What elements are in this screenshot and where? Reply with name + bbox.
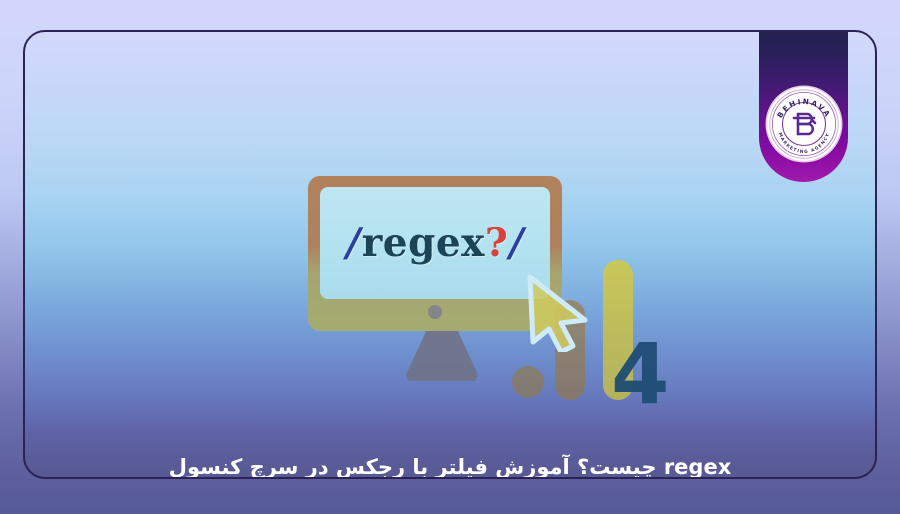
monitor-power-dot [428, 305, 442, 319]
monitor-stand [406, 331, 478, 381]
regex-slash-close: / [508, 220, 525, 266]
behinava-logo-badge[interactable]: BEHINAVA MARKETING AGENCY [767, 87, 841, 161]
banner-card: /regex?/ 4 [23, 30, 877, 479]
monitor-screen: /regex?/ [320, 187, 550, 299]
brown-dot-shape [512, 366, 544, 398]
logo-ribbon: BEHINAVA MARKETING AGENCY [759, 32, 848, 182]
regex-slash-open: / [345, 220, 362, 266]
mouse-pointer-icon [523, 272, 593, 352]
regex-question-mark: ? [485, 220, 508, 266]
screen-code-text: /regex?/ [320, 187, 550, 299]
banner-canvas: /regex?/ 4 [0, 0, 900, 514]
regex-word: regex [362, 220, 485, 266]
digit-four: 4 [611, 332, 669, 416]
page-title: regex چیست؟ آموزش فیلتر با رجکس در سرچ ک… [65, 452, 835, 479]
